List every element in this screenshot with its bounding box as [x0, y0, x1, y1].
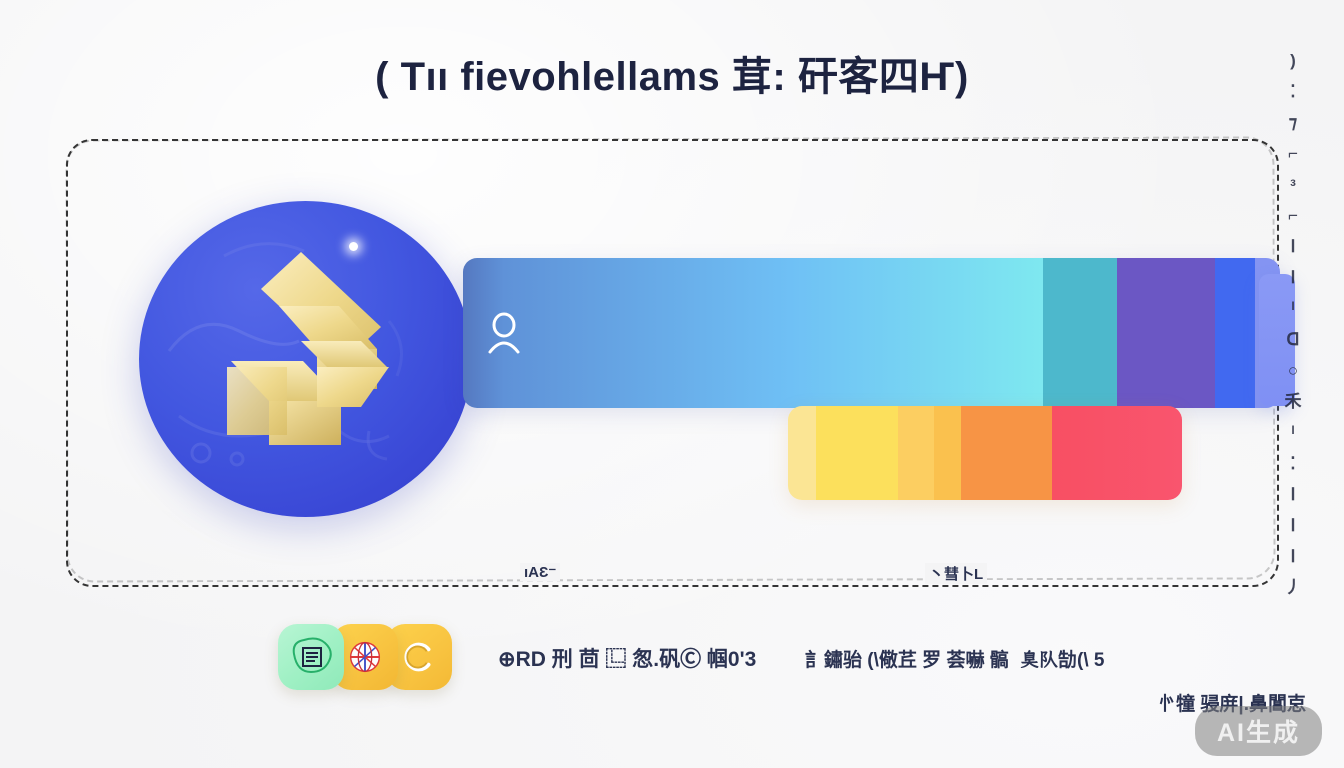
right-edge-glyph: ○: [1288, 362, 1298, 379]
right-edge-glyph: ᴵ: [1291, 300, 1294, 317]
bar-segment-orange: [961, 406, 1052, 500]
right-edge-glyph: ⁊: [1289, 114, 1297, 131]
person-icon: [487, 312, 521, 354]
caption-tertiary: 𦤀队勂(\ 5: [1020, 645, 1104, 672]
right-edge-glyph-column: ) ⁚ ⁊ ⌐ ᵌ ⌐ Ⅰ Ⅰ ᴵ ᗡ ○ 禾 ᴵ ⁚ Ⅰ Ⅰ Ⅰ 丿: [1276, 52, 1310, 596]
bar-segment-blue: [1215, 258, 1256, 408]
letter-c-icon: [397, 635, 441, 679]
dashed-line-fragment-left: ıAƐ⁻: [520, 563, 560, 581]
right-edge-glyph: ): [1290, 52, 1296, 69]
right-edge-glyph: Ⅰ: [1290, 517, 1295, 534]
ai-generated-watermark: AI生成: [1195, 706, 1322, 756]
right-edge-glyph: Ⅰ: [1290, 238, 1295, 255]
golden-blocks-logo: [191, 249, 421, 469]
gradient-progress-bar[interactable]: [463, 258, 1280, 408]
badge-document[interactable]: [278, 624, 344, 690]
right-edge-glyph: ⁚: [1290, 83, 1295, 100]
caption-primary: ⊕RD 刑 茴 ⿺ 怱.矾Ⓒ 帼0'3: [498, 643, 756, 673]
right-edge-glyph: 丿: [1285, 579, 1302, 596]
dashed-line-fragment-right: ⼂彗⼘L: [925, 563, 987, 584]
badge-row: [278, 624, 452, 690]
bar-segment-mid-blue: [504, 258, 790, 408]
bar-segment-light-orange: [934, 406, 962, 500]
right-edge-glyph: ⌐: [1288, 145, 1298, 162]
bar-segment-red-pink: [1052, 406, 1182, 500]
right-edge-glyph: 禾: [1285, 393, 1302, 410]
blue-circle-logo: [139, 201, 472, 517]
bar-segment-pale-yellow: [788, 406, 816, 500]
image-canvas: ( Tıı fievohlellams 茸: 矸客四Ҥ): [0, 0, 1344, 768]
bar-segment-amber: [898, 406, 933, 500]
bar-segment-teal: [1043, 258, 1117, 408]
document-lines-icon: [288, 634, 334, 680]
right-edge-glyph: ᗡ: [1286, 331, 1299, 348]
right-edge-glyph: ᴵ: [1291, 424, 1294, 441]
right-edge-glyph: ⌐: [1288, 207, 1298, 224]
right-edge-glyph: Ⅰ: [1290, 269, 1295, 286]
right-edge-glyph: ⁚: [1290, 455, 1295, 472]
page-title: ( Tıı fievohlellams 茸: 矸客四Ҥ): [0, 44, 1344, 102]
right-edge-glyph: Ⅰ: [1290, 486, 1295, 503]
bar-segment-yellow: [816, 406, 899, 500]
bar-segment-purple: [1117, 258, 1215, 408]
right-edge-glyph: Ⅰ: [1290, 548, 1295, 565]
warm-gradient-bar[interactable]: [788, 406, 1182, 500]
globe-icon: [343, 635, 387, 679]
right-edge-glyph: ᵌ: [1290, 176, 1296, 193]
bar-segment-cyan: [790, 258, 1043, 408]
caption-secondary: 訁鏽骀 (\儆茊 罗 荟嚇 髇: [805, 645, 1009, 672]
